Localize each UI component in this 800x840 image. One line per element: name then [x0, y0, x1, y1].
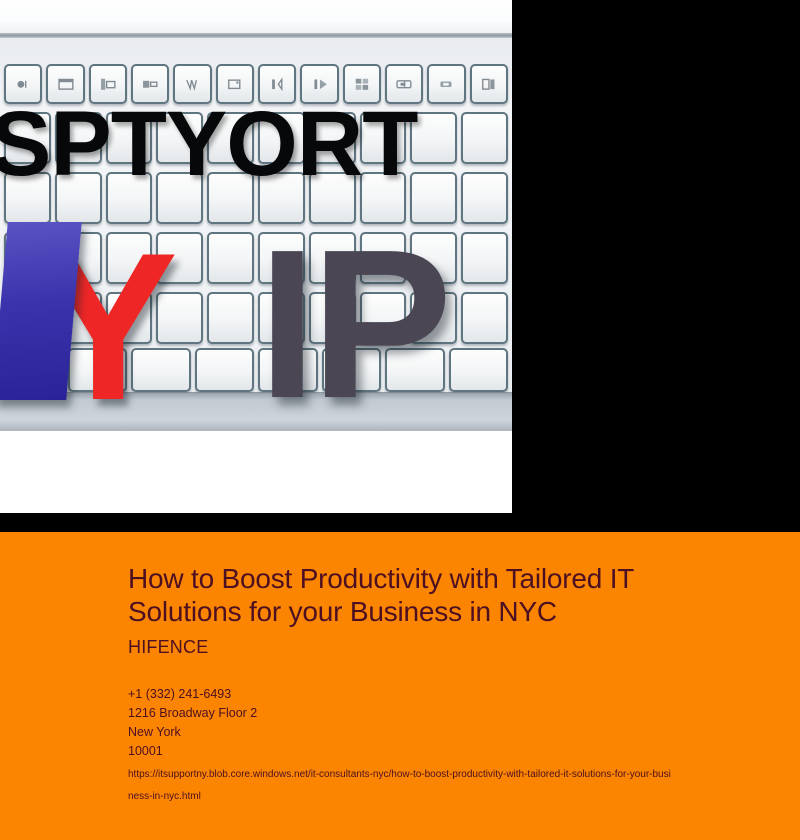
- brand-name: HIFENCE: [128, 636, 708, 658]
- info-panel-content: How to Boost Productivity with Tailored …: [128, 562, 708, 808]
- letter-ip-gray: IP: [258, 218, 446, 430]
- desktop-icon: [98, 76, 118, 93]
- contact-block: +1 (332) 241-6493 1216 Broadway Floor 2 …: [128, 685, 708, 808]
- screen-icon: [140, 76, 160, 93]
- battery-icon: [479, 76, 499, 93]
- grid-icon: [352, 76, 372, 93]
- overlay-letters-group: Y IP: [0, 222, 512, 412]
- volume-icon: [394, 76, 414, 93]
- rewind-icon: [267, 76, 287, 93]
- hero-image-plate: SPTYORT Y IP: [0, 0, 512, 513]
- page-title: How to Boost Productivity with Tailored …: [128, 562, 708, 628]
- contact-address-line1: 1216 Broadway Floor 2: [128, 704, 708, 723]
- launchpad-icon: [225, 76, 245, 93]
- keyboard-top-surface: [0, 0, 512, 34]
- window-icon: [56, 76, 76, 93]
- keyboard-photo: SPTYORT Y IP: [0, 0, 512, 431]
- page-root: SPTYORT Y IP How to Boost Productivity w…: [0, 0, 800, 840]
- play-pause-icon: [310, 76, 330, 93]
- hero-white-strip: [0, 431, 512, 513]
- article-url[interactable]: https://itsupportny.blob.core.windows.ne…: [128, 764, 673, 808]
- overlay-word-black: SPTYORT: [0, 98, 512, 190]
- info-panel: How to Boost Productivity with Tailored …: [0, 532, 800, 840]
- dual-display-icon: [183, 76, 203, 93]
- brightness-icon: [13, 76, 33, 93]
- contact-postal-code: 10001: [128, 742, 708, 761]
- mute-icon: [436, 76, 456, 93]
- contact-phone[interactable]: +1 (332) 241-6493: [128, 685, 708, 704]
- contact-city: New York: [128, 723, 708, 742]
